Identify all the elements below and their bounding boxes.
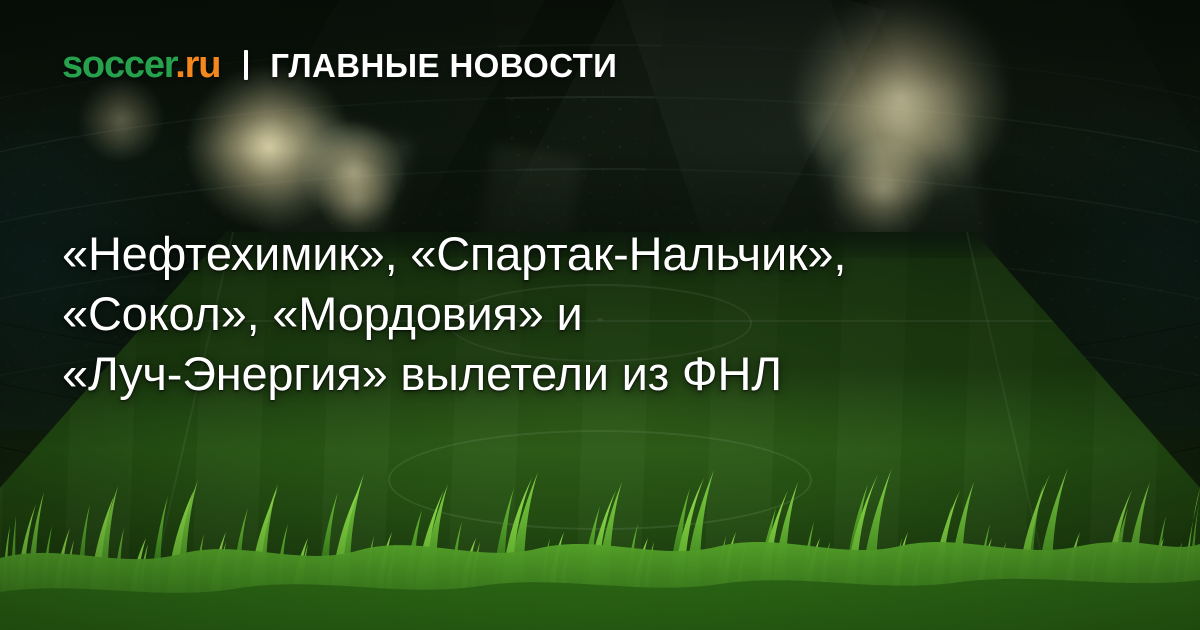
headline-line-2: «Сокол», «Мордовия» и bbox=[62, 284, 1142, 344]
headline-line-3: «Луч-Энергия» вылетели из ФНЛ bbox=[62, 344, 1142, 404]
masthead[interactable]: soccer.ru ГЛАВНЫЕ НОВОСТИ bbox=[62, 46, 617, 84]
page-title: «Нефтехимик», «Спартак-Нальчик», «Сокол»… bbox=[62, 224, 1142, 404]
headline-line-1: «Нефтехимик», «Спартак-Нальчик», bbox=[62, 224, 1142, 284]
masthead-separator-icon bbox=[244, 50, 248, 80]
logo-word-ru: .ru bbox=[175, 44, 220, 86]
site-logo[interactable]: soccer.ru bbox=[62, 46, 220, 84]
section-kicker: ГЛАВНЫЕ НОВОСТИ bbox=[270, 49, 617, 82]
logo-word-soccer: soccer bbox=[62, 44, 175, 86]
news-cover-card: soccer.ru ГЛАВНЫЕ НОВОСТИ «Нефтехимик», … bbox=[0, 0, 1200, 630]
cover-content: soccer.ru ГЛАВНЫЕ НОВОСТИ «Нефтехимик», … bbox=[0, 0, 1200, 630]
